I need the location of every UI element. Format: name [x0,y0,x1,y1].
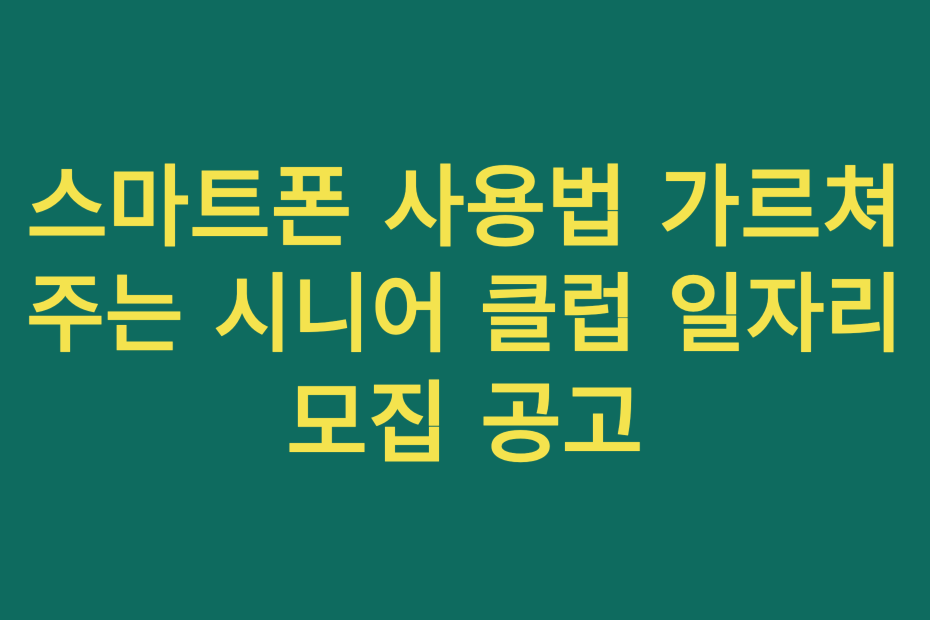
headline-line-3: 모집 공고 [24,370,906,478]
headline-line-1: 스마트폰 사용법 가르쳐 [24,154,906,262]
poster-banner: 스마트폰 사용법 가르쳐 주는 시니어 클럽 일자리 모집 공고 [0,0,930,620]
headline-block: 스마트폰 사용법 가르쳐 주는 시니어 클럽 일자리 모집 공고 [0,154,930,478]
headline-line-2: 주는 시니어 클럽 일자리 [24,262,906,370]
